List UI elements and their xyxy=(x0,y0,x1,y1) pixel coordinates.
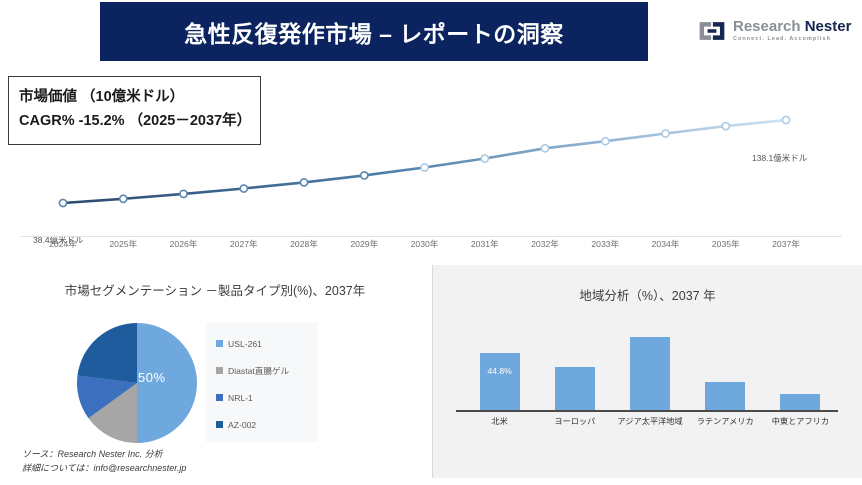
bar-column xyxy=(705,382,745,411)
pie-legend: USL-261Diastat直腸ゲルNRL-1AZ-002 xyxy=(206,322,318,442)
regional-title: 地域分析（%）、2037 年 xyxy=(433,265,862,305)
x-axis-tick-label: 2025年 xyxy=(109,238,137,250)
line-data-point xyxy=(662,130,669,137)
source-line-2: 詳細については：info@researchnester.jp xyxy=(22,462,186,476)
legend-swatch-icon xyxy=(216,394,223,401)
legend-item-label: AZ-002 xyxy=(228,420,256,430)
line-data-point xyxy=(300,179,307,186)
legend-item[interactable]: AZ-002 xyxy=(216,411,318,438)
page-title: 急性反復発作市場 – レポートの洞察 xyxy=(184,15,564,49)
line-data-point xyxy=(180,190,187,197)
bar-rect[interactable] xyxy=(630,337,670,411)
bar-column xyxy=(630,337,670,411)
x-axis-tick-label: 2026年 xyxy=(170,238,198,250)
bar-chart-x-axis: 北米ヨーロッパアジア太平洋地域ラテンアメリカ中東とアフリカ xyxy=(462,415,838,433)
x-axis-tick-label: 2031年 xyxy=(471,238,499,250)
bar-rect[interactable] xyxy=(705,382,745,411)
pie-slice xyxy=(77,323,137,383)
line-data-point xyxy=(240,185,247,192)
legend-item-label: NRL-1 xyxy=(228,393,253,403)
bar-column xyxy=(555,367,595,411)
x-axis-tick-label: 2034年 xyxy=(652,238,680,250)
source-line-1: ソース：Research Nester Inc. 分析 xyxy=(22,448,186,462)
research-nester-logo-icon xyxy=(697,19,727,43)
x-axis-tick-label: 2028年 xyxy=(290,238,318,250)
x-axis-tick-label: 2024年 xyxy=(49,238,77,250)
line-data-point xyxy=(421,164,428,171)
bar-column xyxy=(780,394,820,411)
logo-name: Research Nester xyxy=(733,19,851,34)
line-data-point xyxy=(541,145,548,152)
bar-chart-baseline xyxy=(456,410,838,412)
x-axis-tick-label: 2035年 xyxy=(712,238,740,250)
x-axis-tick-label: 2030年 xyxy=(411,238,439,250)
bar-axis-tick-label: 北米 xyxy=(491,415,507,427)
x-axis-tick-label: 2033年 xyxy=(591,238,619,250)
market-value-label: 市場価値 （10億米ドル） xyxy=(19,86,250,110)
line-data-point xyxy=(481,155,488,162)
brand-logo: Research Nester Connect. Lead. Accomplis… xyxy=(697,13,857,49)
x-axis-tick-label: 2037年 xyxy=(772,238,800,250)
line-end-value-label: 138.1億米ドル xyxy=(752,152,807,164)
x-axis-tick-label: 2032年 xyxy=(531,238,559,250)
bar-rect[interactable] xyxy=(555,367,595,411)
legend-swatch-icon xyxy=(216,367,223,374)
line-data-point xyxy=(782,116,789,123)
market-value-box: 市場価値 （10億米ドル） CAGR% -15.2% （2025－2037年） xyxy=(8,76,261,145)
line-data-point xyxy=(120,195,127,202)
header-title-bar: 急性反復発作市場 – レポートの洞察 xyxy=(100,2,648,61)
legend-item[interactable]: NRL-1 xyxy=(216,384,318,411)
pie-data-label: 50% xyxy=(138,370,166,385)
line-data-point xyxy=(59,199,66,206)
bar-axis-tick-label: アジア太平洋地域 xyxy=(617,415,682,427)
line-data-point xyxy=(602,138,609,145)
logo-name-research: Research xyxy=(733,18,801,35)
bar-column: 44.8% xyxy=(480,353,520,411)
logo-tagline: Connect. Lead. Accomplish xyxy=(733,37,851,42)
x-axis-tick-label: 2029年 xyxy=(350,238,378,250)
legend-item[interactable]: USL-261 xyxy=(216,330,318,357)
bar-value-label: 44.8% xyxy=(480,366,520,376)
pie-svg xyxy=(76,322,198,444)
page-header: 急性反復発作市場 – レポートの洞察 Research Nester Conne… xyxy=(0,0,862,62)
legend-item-label: Diastat直腸ゲル xyxy=(228,365,289,377)
regional-bar-chart: 44.8% xyxy=(462,326,838,411)
bar-axis-tick-label: ラテンアメリカ xyxy=(697,415,754,427)
legend-swatch-icon xyxy=(216,340,223,347)
cagr-label: CAGR% -15.2% （2025－2037年） xyxy=(19,110,250,134)
line-chart-x-axis: 2024年2025年2026年2027年2028年2029年2030年2031年… xyxy=(0,238,862,260)
bar-rect[interactable] xyxy=(780,394,820,411)
x-axis-tick-label: 2027年 xyxy=(230,238,258,250)
line-chart-axis-rule xyxy=(20,236,842,237)
source-note: ソース：Research Nester Inc. 分析 詳細については：info… xyxy=(22,448,186,475)
bar-axis-tick-label: 中東とアフリカ xyxy=(772,415,829,427)
legend-swatch-icon xyxy=(216,421,223,428)
line-data-point xyxy=(722,123,729,130)
legend-item[interactable]: Diastat直腸ゲル xyxy=(216,357,318,384)
logo-name-nester: Nester xyxy=(805,18,852,35)
bar-rect[interactable]: 44.8% xyxy=(480,353,520,411)
segmentation-pie-chart: 50% xyxy=(76,322,198,444)
legend-item-label: USL-261 xyxy=(228,339,262,349)
segmentation-title: 市場セグメンテーション －製品タイプ別(%)、2037年 xyxy=(0,265,430,300)
line-data-point xyxy=(361,172,368,179)
logo-text-block: Research Nester Connect. Lead. Accomplis… xyxy=(733,19,851,42)
bar-axis-tick-label: ヨーロッパ xyxy=(554,415,595,427)
